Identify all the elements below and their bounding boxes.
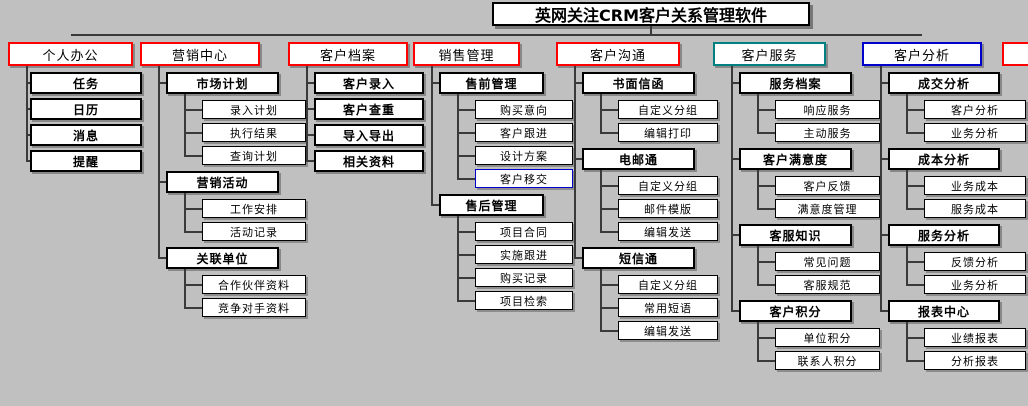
sub-spine-sales-management-1	[457, 216, 459, 301]
leaf-box-customer-analysis-2-0[interactable]: 反馈分析	[924, 252, 1026, 271]
sub-spine-sales-management-0	[457, 94, 459, 179]
leaf-box-marketing-center-2-0[interactable]: 合作伙伴资料	[202, 275, 306, 294]
top-level-box-customer-service[interactable]: 客户服务	[713, 42, 826, 66]
connector-h-leaf-customer-communication-0-1	[600, 132, 618, 134]
leaf-box-customer-service-1-0[interactable]: 客户反馈	[775, 176, 880, 195]
sub-spine-customer-communication-0	[600, 94, 602, 133]
connector-h-leaf-marketing-center-0-0	[184, 109, 202, 111]
connector-h-leaf-marketing-center-0-2	[184, 155, 202, 157]
leaf-box-sales-management-0-1[interactable]: 客户跟进	[475, 123, 573, 142]
leaf-box-marketing-center-1-0[interactable]: 工作安排	[202, 199, 306, 218]
column-spine-marketing-center	[158, 66, 160, 258]
column-spine-customer-archive	[306, 66, 308, 161]
connector-h-leaf-customer-analysis-1-1	[906, 208, 924, 210]
connector-h-leaf-sales-management-0-2	[457, 155, 475, 157]
connector-h-leaf-customer-communication-2-2	[600, 330, 618, 332]
sub-spine-customer-service-0	[757, 94, 759, 133]
group-box-personal-office-3[interactable]: 提醒	[30, 150, 142, 172]
group-box-personal-office-1[interactable]: 日历	[30, 98, 142, 120]
leaf-box-customer-analysis-0-0[interactable]: 客户分析	[924, 100, 1026, 119]
top-level-box-customer-communication[interactable]: 客户沟通	[556, 42, 680, 66]
connector-h-leaf-marketing-center-1-1	[184, 231, 202, 233]
group-box-customer-archive-1[interactable]: 客户查重	[314, 98, 424, 120]
connector-h-leaf-customer-communication-2-0	[600, 284, 618, 286]
connector-h-leaf-sales-management-1-3	[457, 300, 475, 302]
leaf-box-customer-communication-1-1[interactable]: 邮件模版	[618, 199, 718, 218]
sub-spine-marketing-center-0	[184, 94, 186, 156]
sub-spine-customer-analysis-2	[906, 246, 908, 285]
sub-spine-customer-analysis-3	[906, 322, 908, 361]
connector-h-leaf-customer-analysis-3-0	[906, 337, 924, 339]
leaf-box-customer-communication-0-0[interactable]: 自定义分组	[618, 100, 718, 119]
top-level-box-marketing-center[interactable]: 营销中心	[140, 42, 260, 66]
leaf-box-customer-analysis-3-0[interactable]: 业绩报表	[924, 328, 1026, 347]
group-box-customer-analysis-1[interactable]: 成本分析	[888, 148, 1000, 170]
leaf-box-customer-service-3-1[interactable]: 联系人积分	[775, 351, 880, 370]
connector-h-leaf-customer-communication-1-1	[600, 208, 618, 210]
leaf-box-customer-analysis-2-1[interactable]: 业务分析	[924, 275, 1026, 294]
leaf-box-customer-service-1-1[interactable]: 满意度管理	[775, 199, 880, 218]
group-box-customer-archive-2[interactable]: 导入导出	[314, 124, 424, 146]
connector-h-leaf-customer-service-0-0	[757, 109, 775, 111]
leaf-box-customer-analysis-3-1[interactable]: 分析报表	[924, 351, 1026, 370]
leaf-box-customer-analysis-0-1[interactable]: 业务分析	[924, 123, 1026, 142]
connector-h-leaf-customer-analysis-0-1	[906, 132, 924, 134]
connector-h-leaf-customer-service-1-0	[757, 185, 775, 187]
sub-spine-customer-service-2	[757, 246, 759, 285]
leaf-box-sales-management-1-2[interactable]: 购买记录	[475, 268, 573, 287]
connector-h-leaf-marketing-center-0-1	[184, 132, 202, 134]
connector-h-leaf-customer-service-2-0	[757, 261, 775, 263]
connector-h-leaf-sales-management-0-3	[457, 178, 475, 180]
column-spine-customer-analysis	[880, 66, 882, 311]
group-box-customer-service-1[interactable]: 客户满意度	[739, 148, 852, 170]
group-box-customer-communication-1[interactable]: 电邮通	[582, 148, 695, 170]
sub-spine-customer-communication-2	[600, 269, 602, 331]
leaf-box-marketing-center-0-2[interactable]: 查询计划	[202, 146, 306, 165]
sub-spine-customer-analysis-0	[906, 94, 908, 133]
connector-h-leaf-customer-service-2-1	[757, 284, 775, 286]
connector-h-leaf-customer-analysis-0-0	[906, 109, 924, 111]
group-box-customer-communication-0[interactable]: 书面信函	[582, 72, 695, 94]
leaf-box-customer-service-2-0[interactable]: 常见问题	[775, 252, 880, 271]
sub-spine-marketing-center-1	[184, 193, 186, 232]
connector-h-leaf-customer-communication-0-0	[600, 109, 618, 111]
top-level-box-sales-management[interactable]: 销售管理	[413, 42, 520, 66]
leaf-box-customer-communication-1-2[interactable]: 编辑发送	[618, 222, 718, 241]
connector-h-leaf-sales-management-0-1	[457, 132, 475, 134]
column-spine-sales-management	[431, 66, 433, 205]
top-level-box-customer-analysis[interactable]: 客户分析	[862, 42, 982, 66]
group-box-sales-management-1[interactable]: 售后管理	[439, 194, 544, 216]
group-box-personal-office-2[interactable]: 消息	[30, 124, 142, 146]
column-spine-personal-office	[26, 66, 28, 161]
leaf-box-marketing-center-0-0[interactable]: 录入计划	[202, 100, 306, 119]
connector-h-leaf-customer-communication-1-0	[600, 185, 618, 187]
connector-h-leaf-sales-management-1-2	[457, 277, 475, 279]
sub-spine-customer-analysis-1	[906, 170, 908, 209]
connector-h-leaf-customer-analysis-2-0	[906, 261, 924, 263]
connector-h-leaf-customer-analysis-2-1	[906, 284, 924, 286]
connector-h-leaf-marketing-center-2-0	[184, 284, 202, 286]
sub-spine-customer-service-3	[757, 322, 759, 361]
top-level-box-customer-archive[interactable]: 客户档案	[288, 42, 408, 66]
leaf-box-customer-communication-2-2[interactable]: 编辑发送	[618, 321, 718, 340]
connector-h-leaf-customer-service-0-1	[757, 132, 775, 134]
leaf-box-marketing-center-0-1[interactable]: 执行结果	[202, 123, 306, 142]
sub-spine-customer-service-1	[757, 170, 759, 209]
connector-h-leaf-marketing-center-1-0	[184, 208, 202, 210]
connector-h-leaf-customer-analysis-3-1	[906, 360, 924, 362]
leaf-box-customer-service-0-0[interactable]: 响应服务	[775, 100, 880, 119]
top-level-box-personal-office[interactable]: 个人办公	[8, 42, 133, 66]
leaf-box-sales-management-1-1[interactable]: 实施跟进	[475, 245, 573, 264]
column-spine-customer-communication	[574, 66, 576, 258]
connector-h-leaf-customer-communication-2-1	[600, 307, 618, 309]
group-box-sales-management-0[interactable]: 售前管理	[439, 72, 544, 94]
group-box-customer-analysis-0[interactable]: 成交分析	[888, 72, 1000, 94]
leaf-box-customer-analysis-1-0[interactable]: 业务成本	[924, 176, 1026, 195]
trunk-horizontal	[71, 34, 923, 36]
group-box-customer-service-2[interactable]: 客服知识	[739, 224, 852, 246]
group-box-marketing-center-2[interactable]: 关联单位	[166, 247, 279, 269]
connector-h-leaf-sales-management-1-0	[457, 231, 475, 233]
leaf-box-customer-communication-0-1[interactable]: 编辑打印	[618, 123, 718, 142]
group-box-customer-service-3[interactable]: 客户积分	[739, 300, 852, 322]
group-box-customer-service-0[interactable]: 服务档案	[739, 72, 852, 94]
connector-h-leaf-customer-service-3-1	[757, 360, 775, 362]
connector-h-leaf-sales-management-0-0	[457, 109, 475, 111]
connector-h-leaf-sales-management-1-1	[457, 254, 475, 256]
group-box-customer-analysis-3[interactable]: 报表中心	[888, 300, 1000, 322]
group-box-marketing-center-1[interactable]: 营销活动	[166, 171, 279, 193]
group-box-personal-office-0[interactable]: 任务	[30, 72, 142, 94]
connector-h-leaf-customer-service-3-0	[757, 337, 775, 339]
column-spine-customer-service	[731, 66, 733, 311]
leaf-box-customer-service-0-1[interactable]: 主动服务	[775, 123, 880, 142]
connector-h-leaf-customer-service-1-1	[757, 208, 775, 210]
connector-h-leaf-customer-analysis-1-0	[906, 185, 924, 187]
leaf-box-sales-management-0-0[interactable]: 购买意向	[475, 100, 573, 119]
leaf-box-customer-communication-1-0[interactable]: 自定义分组	[618, 176, 718, 195]
top-level-box-truncated-column[interactable]	[1002, 42, 1028, 66]
leaf-box-customer-communication-2-1[interactable]: 常用短语	[618, 298, 718, 317]
group-box-customer-archive-0[interactable]: 客户录入	[314, 72, 424, 94]
leaf-box-customer-analysis-1-1[interactable]: 服务成本	[924, 199, 1026, 218]
leaf-box-customer-communication-2-0[interactable]: 自定义分组	[618, 275, 718, 294]
group-box-customer-communication-2[interactable]: 短信通	[582, 247, 695, 269]
group-box-marketing-center-0[interactable]: 市场计划	[166, 72, 279, 94]
leaf-box-customer-service-3-0[interactable]: 单位积分	[775, 328, 880, 347]
sub-spine-marketing-center-2	[184, 269, 186, 308]
group-box-customer-analysis-2[interactable]: 服务分析	[888, 224, 1000, 246]
leaf-box-sales-management-0-3[interactable]: 客户移交	[475, 169, 573, 188]
leaf-box-customer-service-2-1[interactable]: 客服规范	[775, 275, 880, 294]
leaf-box-marketing-center-2-1[interactable]: 竞争对手资料	[202, 298, 306, 317]
connector-h-leaf-marketing-center-2-1	[184, 307, 202, 309]
leaf-box-sales-management-1-0[interactable]: 项目合同	[475, 222, 573, 241]
connector-h-leaf-customer-communication-1-2	[600, 231, 618, 233]
leaf-box-sales-management-0-2[interactable]: 设计方案	[475, 146, 573, 165]
group-box-customer-archive-3[interactable]: 相关资料	[314, 150, 424, 172]
leaf-box-sales-management-1-3[interactable]: 项目检索	[475, 291, 573, 310]
org-chart-canvas: 英网关注CRM客户关系管理软件个人办公任务日历消息提醒营销中心市场计划录入计划执…	[0, 0, 1028, 406]
sub-spine-customer-communication-1	[600, 170, 602, 232]
chart-title: 英网关注CRM客户关系管理软件	[492, 2, 810, 26]
leaf-box-marketing-center-1-1[interactable]: 活动记录	[202, 222, 306, 241]
